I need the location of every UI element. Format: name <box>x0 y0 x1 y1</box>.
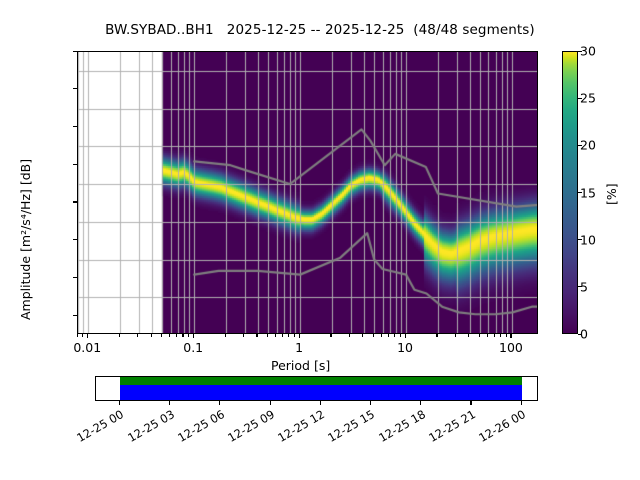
x-minor-tick-mark <box>161 334 162 337</box>
x-minor-tick-mark <box>151 334 152 337</box>
timeline-tick-mark <box>119 401 120 405</box>
timeline-tick-mark <box>470 401 471 405</box>
x-minor-tick-mark <box>394 334 395 337</box>
timeline-tick-label: 12-25 06 <box>166 407 227 450</box>
x-minor-tick-mark <box>479 334 480 337</box>
timeline-tick-mark <box>270 401 271 405</box>
timeline-tick-label: 12-25 09 <box>216 407 277 450</box>
colorbar-tick-mark <box>578 286 582 287</box>
timeline-tick-label: 12-25 03 <box>116 407 177 450</box>
x-minor-tick-mark <box>176 334 177 337</box>
timeline-axes[interactable] <box>95 376 538 401</box>
x-minor-tick-mark <box>188 334 189 337</box>
x-minor-tick-mark <box>225 334 226 337</box>
x-minor-tick-mark <box>275 334 276 337</box>
x-minor-tick-mark <box>494 334 495 337</box>
ppsd-plot-area[interactable] <box>77 51 538 334</box>
y-axis-label: Amplitude [m²/s⁴/Hz] [dB] <box>18 159 33 320</box>
timeline-tick-mark <box>521 401 522 405</box>
colorbar-tick-label: 30 <box>580 44 596 59</box>
timeline-tick-label: 12-25 00 <box>66 407 127 450</box>
colorbar-tick-label: 25 <box>580 91 596 106</box>
x-minor-tick-mark <box>137 334 138 337</box>
x-minor-tick-mark <box>288 334 289 337</box>
colorbar-tick-mark <box>578 334 582 335</box>
colorbar-label: [%] <box>604 183 619 205</box>
timeline-tick-label: 12-25 12 <box>267 407 328 450</box>
y-tick-mark <box>73 88 77 89</box>
y-tick-mark <box>73 277 77 278</box>
colorbar-tick-mark <box>578 51 582 52</box>
noise-model-curves <box>78 52 538 334</box>
y-tick-mark <box>73 51 77 52</box>
x-minor-tick-mark <box>373 334 374 337</box>
x-minor-tick-mark <box>455 334 456 337</box>
x-minor-tick-mark <box>243 334 244 337</box>
y-tick-mark <box>73 315 77 316</box>
x-minor-tick-mark <box>169 334 170 337</box>
x-minor-tick-mark <box>267 334 268 337</box>
x-minor-tick-mark <box>282 334 283 337</box>
x-tick-label: 1 <box>295 340 303 355</box>
ppsd-figure: BW.SYBAD..BH1 2025-12-25 -- 2025-12-25 (… <box>0 0 640 480</box>
x-minor-tick-mark <box>436 334 437 337</box>
x-minor-tick-mark <box>500 334 501 337</box>
x-minor-tick-mark <box>77 334 78 337</box>
timeline-tick-mark <box>420 401 421 405</box>
y-tick-mark <box>73 164 77 165</box>
x-minor-tick-mark <box>400 334 401 337</box>
y-tick-mark <box>73 239 77 240</box>
x-minor-tick-mark <box>381 334 382 337</box>
colorbar-tick-mark <box>578 239 582 240</box>
x-minor-tick-mark <box>468 334 469 337</box>
colorbar-tick-label: 20 <box>580 138 596 153</box>
x-tick-mark <box>405 334 406 338</box>
page-title: BW.SYBAD..BH1 2025-12-25 -- 2025-12-25 (… <box>0 22 640 38</box>
x-minor-tick-mark <box>119 334 120 337</box>
x-minor-tick-mark <box>487 334 488 337</box>
colorbar-tick-mark <box>578 145 582 146</box>
x-minor-tick-mark <box>294 334 295 337</box>
x-minor-tick-mark <box>349 334 350 337</box>
x-minor-tick-mark <box>362 334 363 337</box>
timeline-tick-mark <box>370 401 371 405</box>
timeline-tick-label: 12-26 00 <box>467 407 528 450</box>
x-tick-label: 0.01 <box>73 340 101 355</box>
x-tick-mark <box>193 334 194 338</box>
timeline-bar-gaps <box>120 377 522 385</box>
timeline-tick-mark <box>219 401 220 405</box>
timeline-tick-label: 12-25 18 <box>367 407 428 450</box>
x-minor-tick-mark <box>182 334 183 337</box>
x-minor-tick-mark <box>82 334 83 337</box>
colorbar <box>562 51 578 334</box>
colorbar-tick-mark <box>578 98 582 99</box>
timeline-bar-data <box>120 385 522 400</box>
x-tick-mark <box>510 334 511 338</box>
timeline-tick-mark <box>320 401 321 405</box>
x-tick-label: 100 <box>499 340 523 355</box>
x-tick-label: 10 <box>397 340 413 355</box>
x-axis-label: Period [s] <box>271 358 330 373</box>
timeline-tick-mark <box>169 401 170 405</box>
timeline-tick-label: 12-25 21 <box>417 407 478 450</box>
x-tick-label: 0.1 <box>183 340 203 355</box>
y-tick-mark <box>73 126 77 127</box>
x-tick-mark <box>299 334 300 338</box>
colorbar-tick-label: 15 <box>580 185 596 200</box>
x-tick-mark <box>87 334 88 338</box>
colorbar-tick-mark <box>578 192 582 193</box>
x-minor-tick-mark <box>256 334 257 337</box>
colorbar-tick-label: 10 <box>580 232 596 247</box>
x-minor-tick-mark <box>330 334 331 337</box>
y-tick-mark <box>73 201 77 202</box>
x-minor-tick-mark <box>388 334 389 337</box>
timeline-tick-label: 12-25 15 <box>317 407 378 450</box>
x-minor-tick-mark <box>506 334 507 337</box>
